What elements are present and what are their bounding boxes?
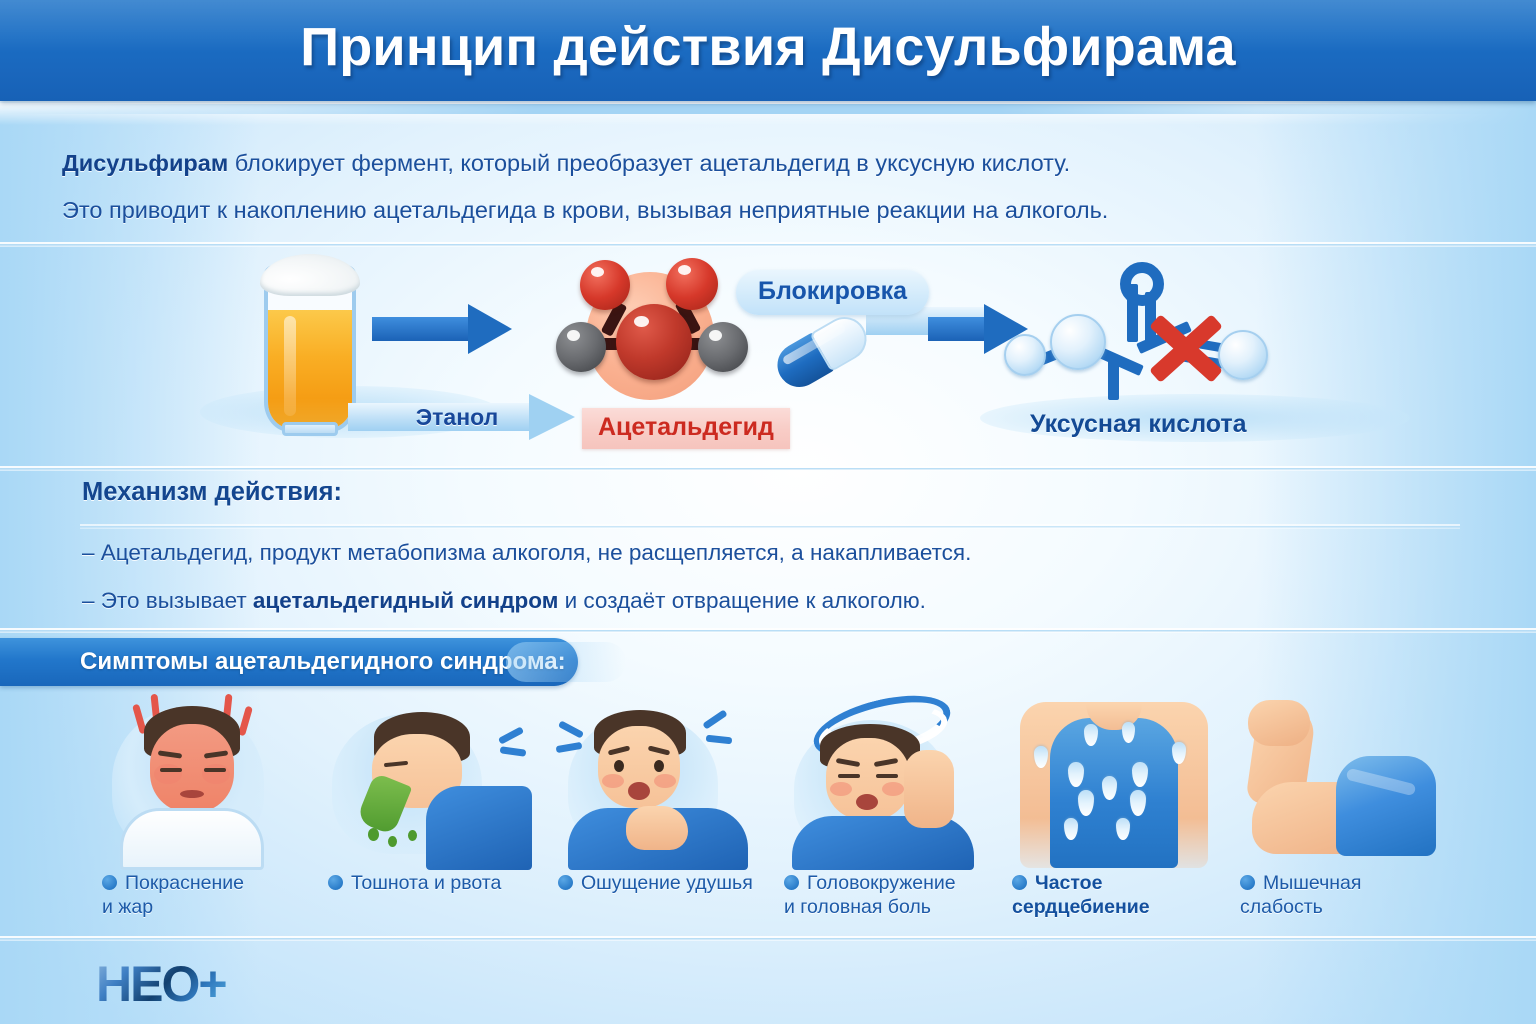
acetaldehyde-badge: Ацетальдегид — [582, 408, 790, 449]
symptoms-banner: Симптомы ацетальдегидного синдрома: — [0, 638, 578, 686]
closed-eye — [876, 774, 898, 778]
blocking-badge: Блокировка — [736, 270, 929, 315]
vomit-drop — [408, 830, 417, 841]
arrow-head — [468, 304, 512, 354]
closed-eye — [160, 768, 182, 772]
arrow-ethanol-label: Этанол — [348, 394, 578, 440]
symptoms-banner-label: Симптомы ацетальдегидного синдрома: — [80, 648, 566, 676]
bullet-dot-icon — [784, 875, 799, 890]
cheek-blush — [654, 774, 676, 788]
intro-drug-name: Дисульфирам — [62, 150, 228, 176]
mechanism-item-2-bold: ацетальдегидный синдром — [253, 588, 558, 613]
symptom-caption: Частое сердцебиение — [1012, 872, 1224, 920]
symptom-caption: Покраснение и жар — [102, 872, 314, 920]
intro-block: Дисульфирам блокирует фермент, который п… — [62, 148, 1362, 242]
eye — [614, 760, 624, 772]
mechanism-item-2: – Это вызывает ацетальдегидный синдром и… — [82, 588, 1282, 614]
atom-highlight — [709, 330, 722, 341]
bullet-dot-icon — [558, 875, 573, 890]
arrow-shaft — [928, 317, 988, 341]
symptom-item-flushing: Покраснение и жар — [96, 690, 312, 940]
vomiting-illustration — [322, 690, 538, 868]
bullet-dot-icon — [328, 875, 343, 890]
cheek-blush — [830, 782, 852, 796]
brand-logo: НЕО+ — [96, 955, 226, 1013]
atom-hydrogen — [698, 322, 748, 372]
symptom-caption: Мышечная слабость — [1240, 872, 1452, 920]
heat-squiggle-icon — [238, 706, 253, 737]
shirt — [426, 786, 532, 870]
symptom-item-vomiting: Тошнота и рвота — [322, 690, 538, 940]
mechanism-underline — [80, 524, 1460, 529]
arrow-shaft — [372, 317, 472, 341]
sweating-torso-illustration — [1006, 690, 1222, 868]
vomit-drop — [368, 828, 379, 841]
symptom-caption: Тошнота и рвота — [328, 872, 540, 896]
shirt — [120, 808, 264, 870]
atom-highlight — [678, 265, 691, 275]
mechanism-list: – Ацетальдегид, продукт метабопизма алко… — [82, 540, 1282, 636]
symptom-caption: Ошущение удушья — [558, 872, 770, 896]
symptom-label-line1: Тошнота и рвота — [351, 872, 501, 894]
symptom-item-muscle-weakness: Мышечная слабость — [1234, 690, 1450, 940]
intro-line-1: Дисульфирам блокирует фермент, который п… — [62, 148, 1362, 179]
fist — [1248, 700, 1310, 746]
symptom-label-line1: Ошущение удушья — [581, 872, 753, 894]
symptom-item-palpitations: Частое сердцебиение — [1006, 690, 1222, 940]
motion-line-icon — [498, 726, 524, 744]
ethanol-label: Этанол — [382, 403, 532, 431]
hand-at-throat — [626, 806, 688, 850]
bullet-dot-icon — [1240, 875, 1255, 890]
closed-eye — [204, 768, 226, 772]
beer-liquid — [268, 310, 352, 428]
atom-oxygen — [666, 258, 718, 310]
acetic-acid-label: Уксусная кислота — [1030, 410, 1247, 439]
arrow-ethanol-to-acetaldehyde — [372, 304, 512, 354]
motion-line-icon — [558, 720, 584, 738]
symptom-label-line2: и жар — [102, 896, 153, 918]
banner-glow — [506, 642, 626, 682]
atom-carbon — [616, 304, 692, 380]
atom-highlight — [567, 330, 580, 341]
acetic-acid-molecule-icon — [996, 262, 1276, 402]
atom-carbon — [1050, 314, 1106, 370]
flushed-face-illustration — [96, 690, 312, 868]
mechanism-item-2-post: и создаёт отвращение к алкоголю. — [558, 588, 926, 613]
mechanism-title: Механизм действия: — [82, 478, 342, 507]
blocked-cross-icon — [1138, 300, 1230, 392]
eye — [654, 760, 664, 772]
symptom-item-suffocation: Ошущение удушья — [552, 690, 768, 940]
symptom-label-line1: Покраснение — [125, 872, 244, 894]
motion-line-icon — [702, 709, 727, 729]
molecule-bond — [1108, 358, 1119, 400]
symptom-label-line2: сердцебиение — [1012, 896, 1150, 918]
open-mouth — [628, 782, 650, 800]
intro-line-1-rest: блокирует фермент, который преобразует а… — [228, 150, 1070, 176]
symptom-caption: Головокружение и головная боль — [784, 872, 996, 920]
closed-eye — [838, 774, 860, 778]
symptom-label-line2: слабость — [1240, 896, 1323, 918]
choking-illustration — [552, 690, 768, 868]
cheek-blush — [602, 774, 624, 788]
atom-hydrogen — [1004, 334, 1046, 376]
open-mouth — [856, 794, 878, 810]
glass-base — [282, 422, 338, 436]
mechanism-item-1: – Ацетальдегид, продукт метабопизма алко… — [82, 540, 1282, 566]
acetaldehyde-molecule-icon — [556, 256, 752, 406]
beer-foam — [260, 254, 360, 296]
page-title: Принцип действия Дисульфирама — [0, 16, 1536, 78]
vomit-drop — [388, 836, 397, 847]
header-wave-decoration-2 — [0, 104, 1536, 114]
symptom-label-line1: Мышечная — [1263, 872, 1361, 894]
beer-glass-icon — [258, 254, 362, 436]
mouth — [180, 790, 204, 798]
motion-line-icon — [500, 746, 527, 757]
cheek-blush — [202, 764, 230, 784]
motion-line-icon — [706, 735, 733, 745]
poster-header: Принцип действия Дисульфирама — [0, 0, 1536, 101]
atom-highlight — [591, 267, 604, 277]
mechanism-item-2-pre: – Это вызывает — [82, 588, 253, 613]
intro-line-2: Это приводит к накоплению ацетальдегида … — [62, 195, 1362, 226]
atom-hydrogen — [556, 322, 606, 372]
bullet-dot-icon — [102, 875, 117, 890]
symptoms-row: Покраснение и жар Тошнота и рвота — [0, 690, 1536, 940]
symptom-item-dizziness: Головокружение и головная боль — [778, 690, 994, 940]
symptom-label-line2: и головная боль — [784, 896, 931, 918]
atom-oxygen — [580, 260, 630, 310]
atom-highlight — [634, 316, 649, 327]
cheek-blush — [882, 782, 904, 796]
symptom-label-line1: Головокружение — [807, 872, 956, 894]
hand-on-head — [904, 750, 954, 828]
infographic-poster: Принцип действия Дисульфирама Дисульфира… — [0, 0, 1536, 1024]
flexed-arm-illustration — [1234, 690, 1450, 868]
dizziness-illustration — [778, 690, 994, 868]
bullet-dot-icon — [1012, 875, 1027, 890]
symptom-label-line1: Частое — [1035, 872, 1102, 894]
cheek-blush — [154, 764, 182, 784]
